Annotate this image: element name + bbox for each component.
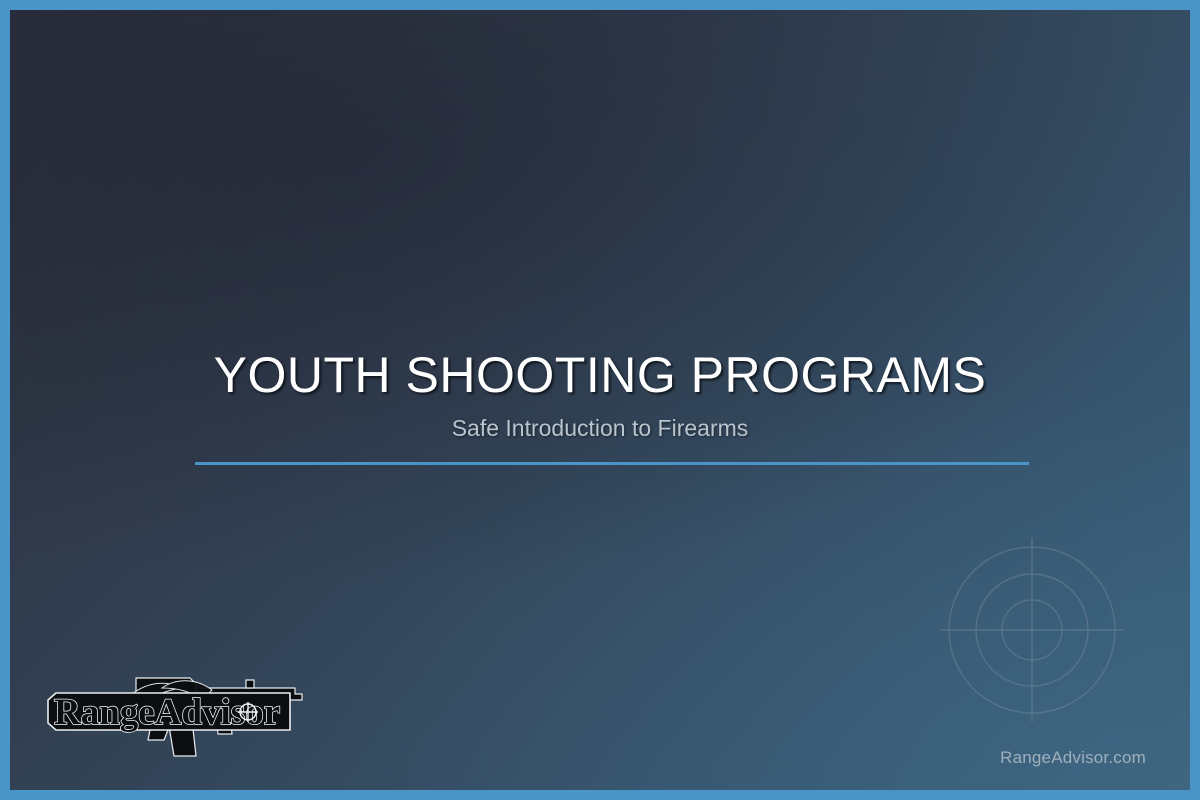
brand-logo: RangeAdvisor (40, 660, 318, 758)
presentation-slide: YOUTH SHOOTING PROGRAMS Safe Introductio… (0, 0, 1200, 800)
footer-website-label: RangeAdvisor.com (1000, 748, 1146, 768)
title-block: YOUTH SHOOTING PROGRAMS Safe Introductio… (10, 346, 1190, 442)
title-divider (195, 462, 1029, 465)
page-title: YOUTH SHOOTING PROGRAMS (10, 346, 1190, 404)
page-subtitle: Safe Introduction to Firearms (10, 414, 1190, 442)
